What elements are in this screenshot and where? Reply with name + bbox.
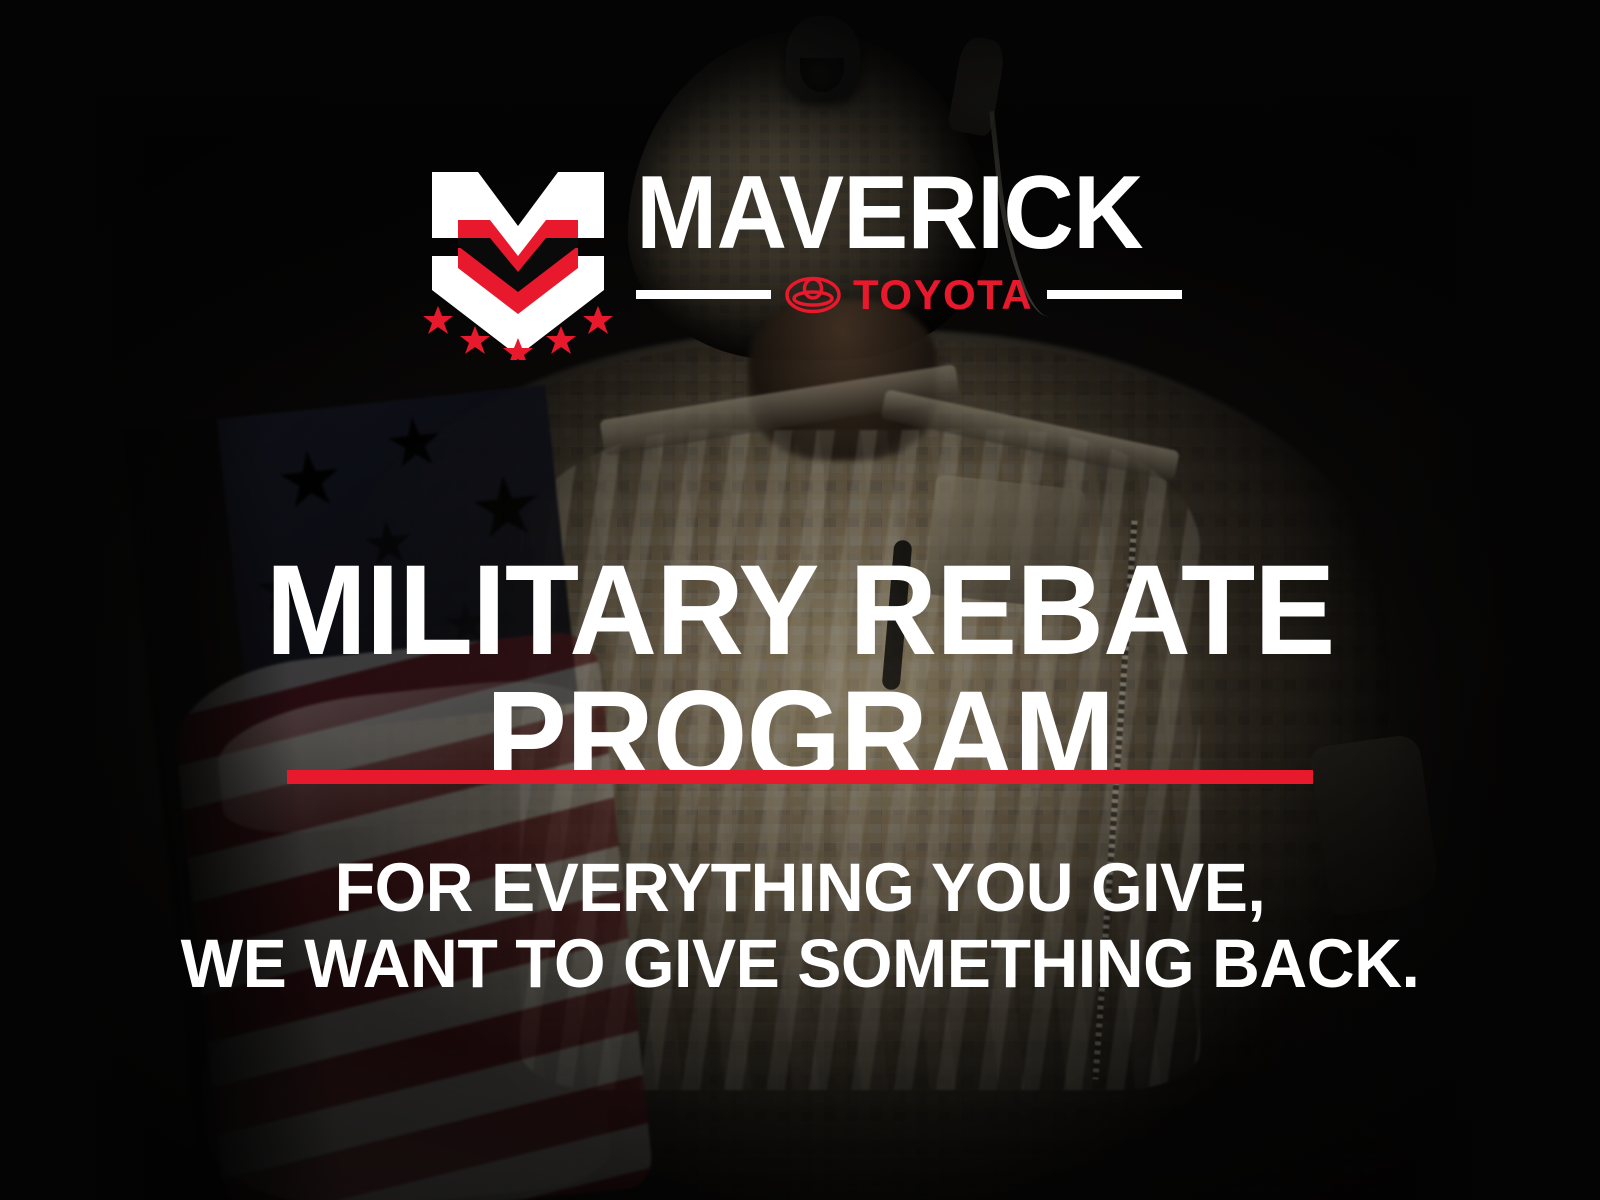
headline-line-1: MILITARY REBATE: [40, 548, 1560, 675]
banner-content: MAVERICK: [0, 0, 1600, 1200]
brand-lockup: MAVERICK: [0, 160, 1600, 360]
lockup-rule-right: [1047, 290, 1182, 299]
tagline-line-2: WE WANT TO GIVE SOMETHING BACK.: [32, 926, 1568, 1002]
red-divider-rule: [287, 770, 1313, 784]
toyota-sub-lockup: TOYOTA: [636, 274, 1182, 316]
brand-wordmark: MAVERICK: [636, 166, 1149, 262]
brand-text-group: MAVERICK: [636, 160, 1182, 316]
toyota-brand-group: TOYOTA: [785, 274, 1033, 316]
chevron-rank-emblem-icon: [418, 160, 618, 360]
lockup-rule-left: [636, 290, 771, 299]
toyota-wordmark: TOYOTA: [853, 274, 1033, 316]
divider-wrapper: [0, 770, 1600, 784]
tagline-line-1: FOR EVERYTHING YOU GIVE,: [32, 850, 1568, 926]
toyota-emblem-icon: [785, 276, 841, 314]
page-title: MILITARY REBATE PROGRAM: [40, 548, 1560, 801]
tagline: FOR EVERYTHING YOU GIVE, WE WANT TO GIVE…: [32, 850, 1568, 1002]
promo-banner: MAVERICK: [0, 0, 1600, 1200]
